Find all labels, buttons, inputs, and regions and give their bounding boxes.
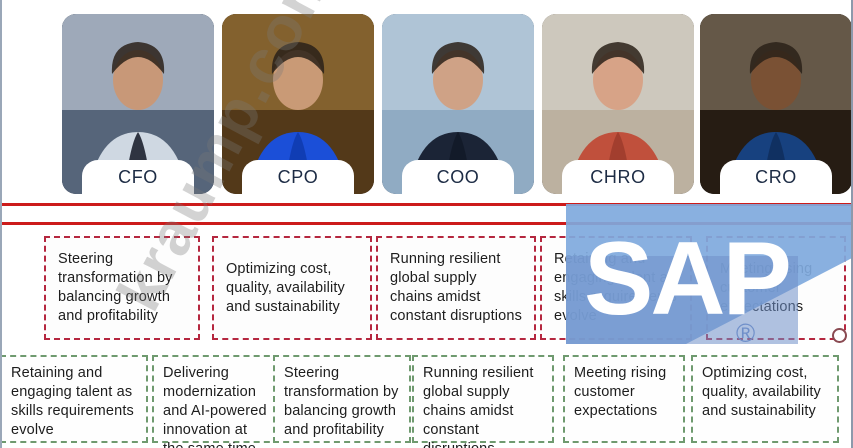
red-priority-box-text-1: Steering transformation by balancing gro… [58,250,186,326]
green-priority-box-4[interactable]: Running resilient global supply chains a… [412,355,554,443]
green-priority-box-2[interactable]: Delivering modernization and AI-powered … [152,355,280,443]
green-priority-box-text-1: Retaining and engaging talent as skills … [11,364,137,440]
persona-card-coo[interactable]: COO [382,14,534,194]
red-priority-box-row: Steering transformation by balancing gro… [0,236,853,344]
persona-card-row: CFOCPOCOOCHROCRO [0,6,853,198]
green-priority-box-1[interactable]: Retaining and engaging talent as skills … [0,355,148,443]
slide-canvas: CFOCPOCOOCHROCRO Steering transformation… [0,0,853,448]
red-priority-box-text-4: Retaining and engaging talent as skills … [554,250,678,326]
red-priority-box-2[interactable]: Optimizing cost, quality, availability a… [212,236,372,340]
red-priority-box-1[interactable]: Steering transformation by balancing gro… [44,236,200,340]
slide-left-border [0,0,2,448]
persona-card-chro[interactable]: CHRO [542,14,694,194]
green-priority-box-text-5: Meeting rising customer expectations [574,364,674,421]
persona-card-cpo[interactable]: CPO [222,14,374,194]
red-priority-box-3[interactable]: Running resilient global supply chains a… [376,236,536,340]
red-priority-box-text-5: Meeting rising customer expectations [720,260,832,317]
red-priority-box-5[interactable]: Meeting rising customer expectations [706,236,846,340]
red-priority-box-4[interactable]: Retaining and engaging talent as skills … [540,236,692,340]
persona-role-label-chro: CHRO [562,160,674,194]
persona-role-label-cro: CRO [720,160,832,194]
green-priority-box-row: Retaining and engaging talent as skills … [0,355,853,448]
selection-handle-circle[interactable] [832,328,847,343]
persona-card-cro[interactable]: CRO [700,14,852,194]
persona-role-label-cfo: CFO [82,160,194,194]
green-priority-box-6[interactable]: Optimizing cost, quality, availability a… [691,355,839,443]
red-priority-box-text-3: Running resilient global supply chains a… [390,250,522,326]
green-priority-box-text-2: Delivering modernization and AI-powered … [163,364,269,448]
green-priority-box-3[interactable]: Steering transformation by balancing gro… [273,355,411,443]
green-priority-box-text-6: Optimizing cost, quality, availability a… [702,364,828,421]
red-divider-line-bottom [0,222,853,225]
persona-card-cfo[interactable]: CFO [62,14,214,194]
red-priority-box-text-2: Optimizing cost, quality, availability a… [226,260,358,317]
persona-role-label-coo: COO [402,160,514,194]
red-divider-line-top [0,203,853,206]
persona-role-label-cpo: CPO [242,160,354,194]
green-priority-box-text-3: Steering transformation by balancing gro… [284,364,400,440]
green-priority-box-5[interactable]: Meeting rising customer expectations [563,355,685,443]
green-priority-box-text-4: Running resilient global supply chains a… [423,364,543,448]
